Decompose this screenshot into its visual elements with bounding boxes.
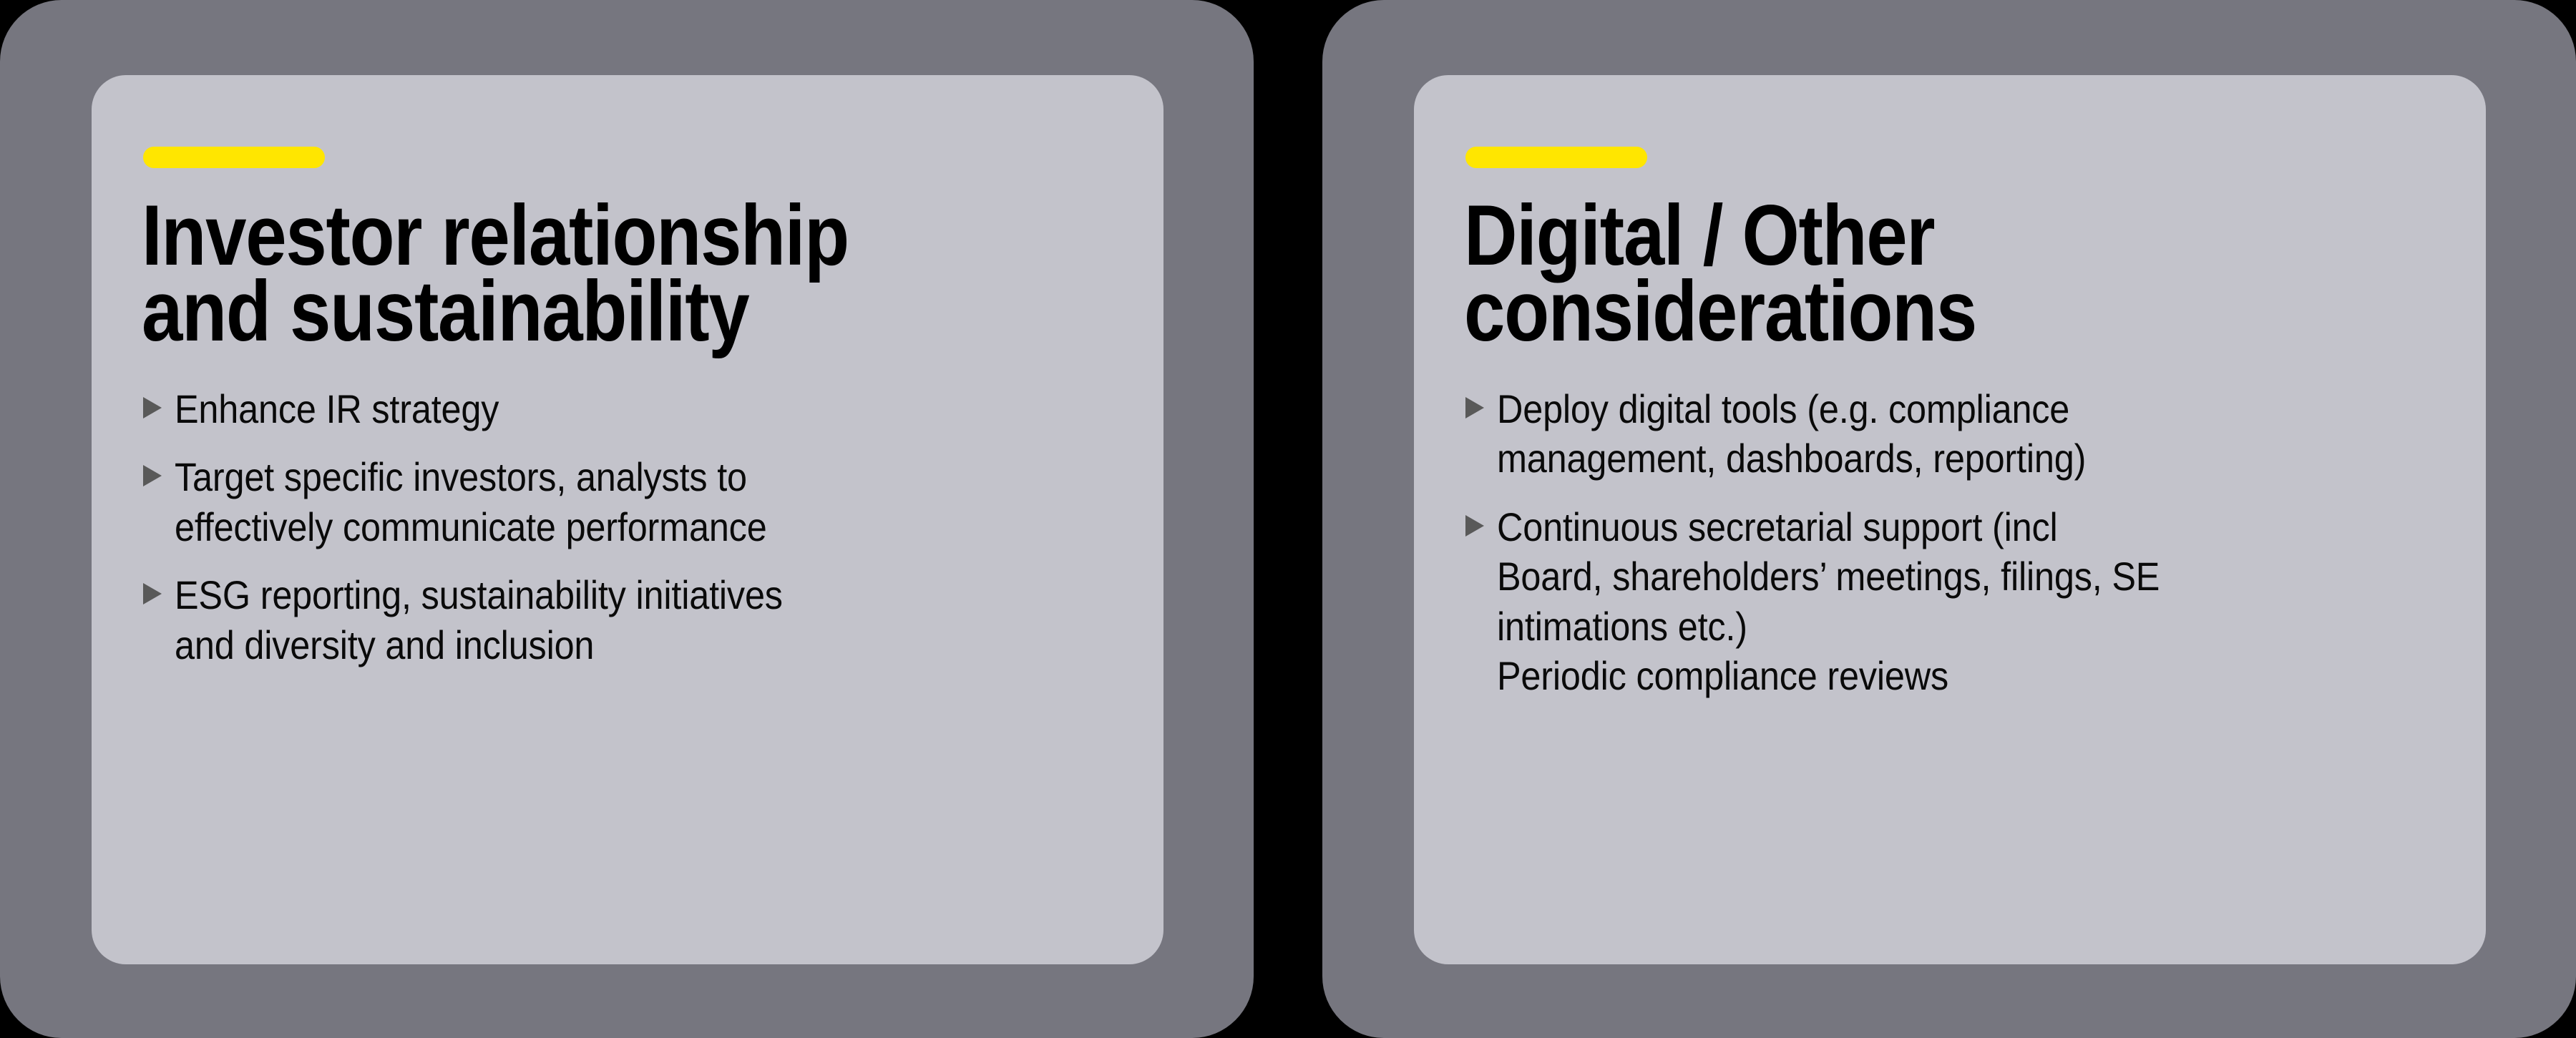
list-item-label: Deploy digital tools (e.g. compliance ma… xyxy=(1497,384,2382,484)
triangle-right-icon xyxy=(1464,384,1487,420)
triangle-right-icon xyxy=(1464,502,1487,538)
list-item-label: Continuous secretarial support (incl Boa… xyxy=(1497,502,2382,701)
card-panel-investor-relationship: Investor relationship and sustainability… xyxy=(92,75,1163,964)
list-item: Deploy digital tools (e.g. compliance ma… xyxy=(1464,384,2480,484)
list-item: Enhance IR strategy xyxy=(142,384,1158,434)
yellow-accent-bar xyxy=(143,147,325,168)
yellow-accent-bar xyxy=(1465,147,1647,168)
list-item: Target specific investors, analysts to e… xyxy=(142,452,1158,552)
triangle-right-icon xyxy=(142,452,165,488)
bullet-list-digital-other-considerations: Deploy digital tools (e.g. compliance ma… xyxy=(1464,384,2480,701)
card-panel-digital-other-considerations: Digital / Other considerations Deploy di… xyxy=(1414,75,2486,964)
list-item: ESG reporting, sustainability initiative… xyxy=(142,570,1158,670)
page-title-digital-other-considerations: Digital / Other considerations xyxy=(1464,198,2326,349)
slide-canvas: Investor relationship and sustainability… xyxy=(0,0,2576,1038)
triangle-right-icon xyxy=(142,570,165,606)
bullet-list-investor-relationship: Enhance IR strategy Target specific inve… xyxy=(142,384,1158,670)
page-title-investor-relationship: Investor relationship and sustainability xyxy=(142,198,1003,349)
list-item-label: Enhance IR strategy xyxy=(175,384,1060,434)
list-item-label: Target specific investors, analysts to e… xyxy=(175,452,1060,552)
list-item-label: ESG reporting, sustainability initiative… xyxy=(175,570,1060,670)
list-item: Continuous secretarial support (incl Boa… xyxy=(1464,502,2480,701)
triangle-right-icon xyxy=(142,384,165,420)
card-frame-investor-relationship: Investor relationship and sustainability… xyxy=(0,0,1254,1038)
card-frame-digital-other-considerations: Digital / Other considerations Deploy di… xyxy=(1322,0,2576,1038)
